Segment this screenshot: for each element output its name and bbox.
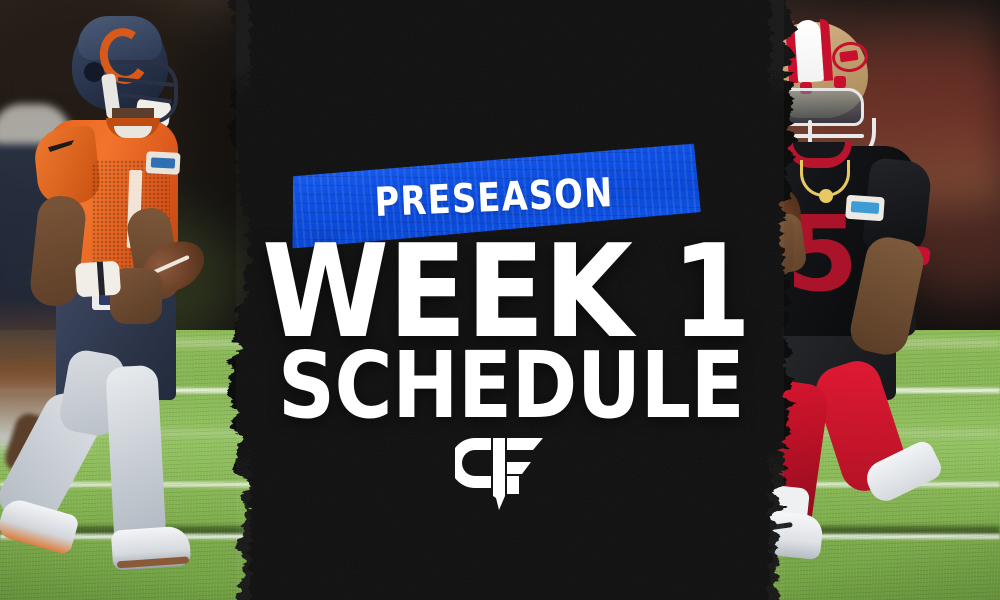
pf-logo-icon [455, 436, 551, 510]
preseason-week1-schedule-graphic: 5 [0, 0, 1000, 600]
pfn-monogram-logo [455, 436, 551, 510]
headline-block: PRESEASON WEEK 1 SCHEDULE [0, 0, 1000, 600]
headline-schedule: SCHEDULE [278, 344, 674, 428]
